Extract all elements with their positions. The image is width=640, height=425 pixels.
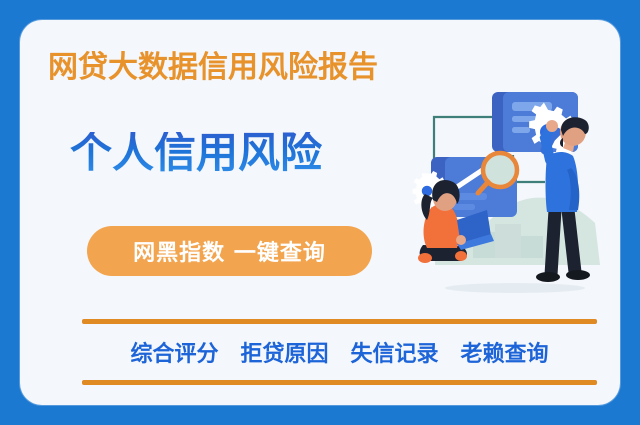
tag-comprehensive-score[interactable]: 综合评分 (130, 344, 218, 366)
headline: 网贷大数据信用风险报告 (48, 53, 378, 83)
subheadline: 个人信用风险 (70, 132, 322, 174)
query-cta-button[interactable]: 网黑指数 一键查询 (87, 226, 372, 276)
divider-bottom (82, 380, 597, 385)
feature-tag-row: 综合评分 拒贷原因 失信记录 老赖查询 (82, 332, 597, 378)
divider-top (82, 319, 597, 324)
tag-dishonesty-record[interactable]: 失信记录 (351, 344, 439, 366)
tag-defaulter-query[interactable]: 老赖查询 (461, 344, 549, 366)
promo-banner: 网贷大数据信用风险报告 个人信用风险 网黑指数 一键查询 (0, 0, 640, 425)
credit-data-analysis-illustration (395, 60, 620, 310)
tag-rejection-reason[interactable]: 拒贷原因 (240, 344, 328, 366)
banner-card: 网贷大数据信用风险报告 个人信用风险 网黑指数 一键查询 (20, 20, 620, 405)
